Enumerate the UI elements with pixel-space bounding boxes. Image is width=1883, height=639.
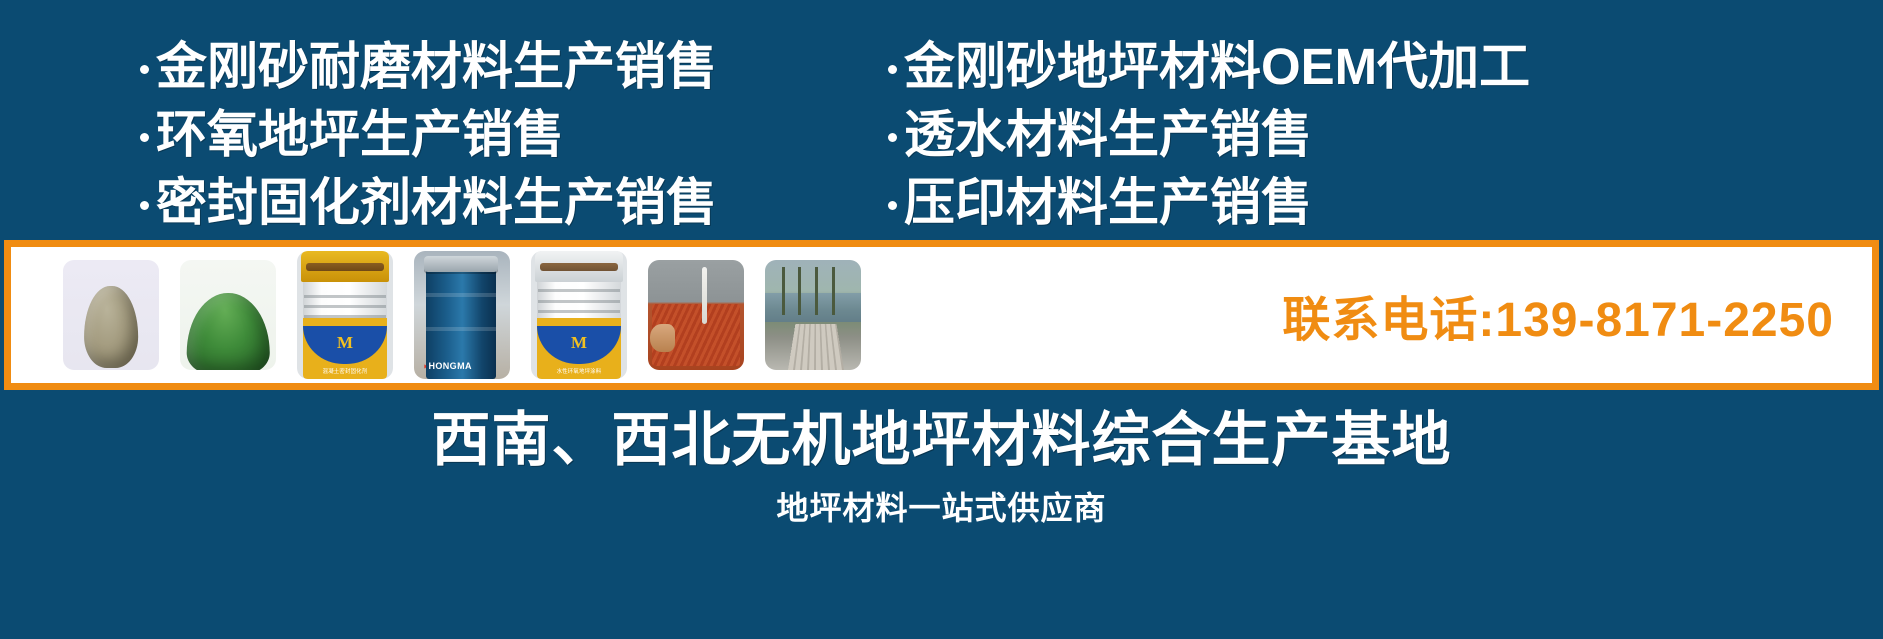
product-thumbnail-list: M 混凝土密封固化剂 ◗HONGMA M 水性环氧地坪涂料 bbox=[11, 247, 861, 383]
drum-brand-label: ◗HONGMA bbox=[423, 361, 472, 371]
pail-rib bbox=[304, 295, 387, 298]
service-item-left-1: 金刚砂耐磨材料生产销售 bbox=[140, 36, 880, 98]
product-thumb-green-powder-heap bbox=[180, 260, 276, 370]
product-thumb-stamped-concrete-path bbox=[765, 260, 861, 370]
pail-rib bbox=[538, 300, 621, 303]
pail-rib bbox=[538, 310, 621, 313]
service-label: 环氧地坪生产销售 bbox=[156, 104, 564, 166]
tree-icon bbox=[832, 267, 835, 315]
pail-caption: 混凝土密封固化剂 bbox=[323, 369, 368, 376]
product-thumb-red-epoxy-floor-pour bbox=[648, 260, 744, 370]
services-left-column: 金刚砂耐磨材料生产销售 环氧地坪生产销售 密封固化剂材料生产销售 bbox=[0, 36, 880, 240]
bullet-dot-icon bbox=[888, 65, 897, 74]
product-thumb-white-pail-sealer: M 混凝土密封固化剂 bbox=[297, 251, 393, 379]
bullet-dot-icon bbox=[888, 133, 897, 142]
service-label: 密封固化剂材料生产销售 bbox=[156, 172, 717, 234]
footer-section: 西南、西北无机地坪材料综合生产基地 地坪材料一站式供应商 bbox=[0, 390, 1883, 639]
service-label: 透水材料生产销售 bbox=[904, 104, 1312, 166]
services-right-column: 金刚砂地坪材料OEM代加工 透水材料生产销售 压印材料生产销售 bbox=[880, 36, 1880, 240]
contact-phone[interactable]: 联系电话:139-8171-2250 bbox=[1282, 280, 1872, 350]
brand-letter: M bbox=[571, 334, 587, 351]
pour-stream bbox=[702, 267, 707, 324]
pail-rib bbox=[538, 289, 621, 292]
service-item-right-1: 金刚砂地坪材料OEM代加工 bbox=[888, 36, 1880, 98]
service-label: 金刚砂地坪材料OEM代加工 bbox=[904, 36, 1530, 98]
service-item-right-3: 压印材料生产销售 bbox=[888, 172, 1880, 234]
service-item-left-3: 密封固化剂材料生产销售 bbox=[140, 172, 880, 234]
pail-lid bbox=[301, 251, 389, 282]
tree-icon bbox=[815, 267, 818, 315]
service-item-left-2: 环氧地坪生产销售 bbox=[140, 104, 880, 166]
water-surface bbox=[765, 293, 861, 322]
pail-caption: 水性环氧地坪涂料 bbox=[557, 369, 602, 376]
footer-subline: 地坪材料一站式供应商 bbox=[776, 486, 1106, 530]
bullet-dot-icon bbox=[140, 201, 149, 210]
product-thumb-blue-drum: ◗HONGMA bbox=[414, 251, 510, 379]
pail-lid bbox=[535, 251, 623, 282]
bullet-dot-icon bbox=[140, 133, 149, 142]
service-label: 金刚砂耐磨材料生产销售 bbox=[156, 36, 717, 98]
brand-letter: M bbox=[337, 334, 353, 351]
stamped-path bbox=[788, 324, 844, 370]
product-strip: M 混凝土密封固化剂 ◗HONGMA M 水性环氧地坪涂料 bbox=[4, 240, 1879, 390]
footer-headline: 西南、西北无机地坪材料综合生产基地 bbox=[431, 404, 1451, 476]
promo-banner: 金刚砂耐磨材料生产销售 环氧地坪生产销售 密封固化剂材料生产销售 金刚砂地坪材料… bbox=[0, 0, 1883, 639]
pail-label: M 混凝土密封固化剂 bbox=[303, 318, 387, 379]
tree-icon bbox=[798, 267, 801, 315]
service-item-right-2: 透水材料生产销售 bbox=[888, 104, 1880, 166]
services-section: 金刚砂耐磨材料生产销售 环氧地坪生产销售 密封固化剂材料生产销售 金刚砂地坪材料… bbox=[0, 0, 1883, 240]
worker-hand bbox=[650, 324, 675, 353]
pail-rib bbox=[304, 305, 387, 308]
product-thumb-white-pail-epoxy: M 水性环氧地坪涂料 bbox=[531, 251, 627, 379]
pail-label: M 水性环氧地坪涂料 bbox=[537, 318, 621, 379]
product-thumb-khaki-powder-heap bbox=[63, 260, 159, 370]
bullet-dot-icon bbox=[140, 65, 149, 74]
bullet-dot-icon bbox=[888, 201, 897, 210]
drum-hoop bbox=[426, 293, 495, 297]
tree-icon bbox=[782, 267, 785, 315]
service-label: 压印材料生产销售 bbox=[904, 172, 1312, 234]
drum-hoop bbox=[426, 327, 495, 331]
